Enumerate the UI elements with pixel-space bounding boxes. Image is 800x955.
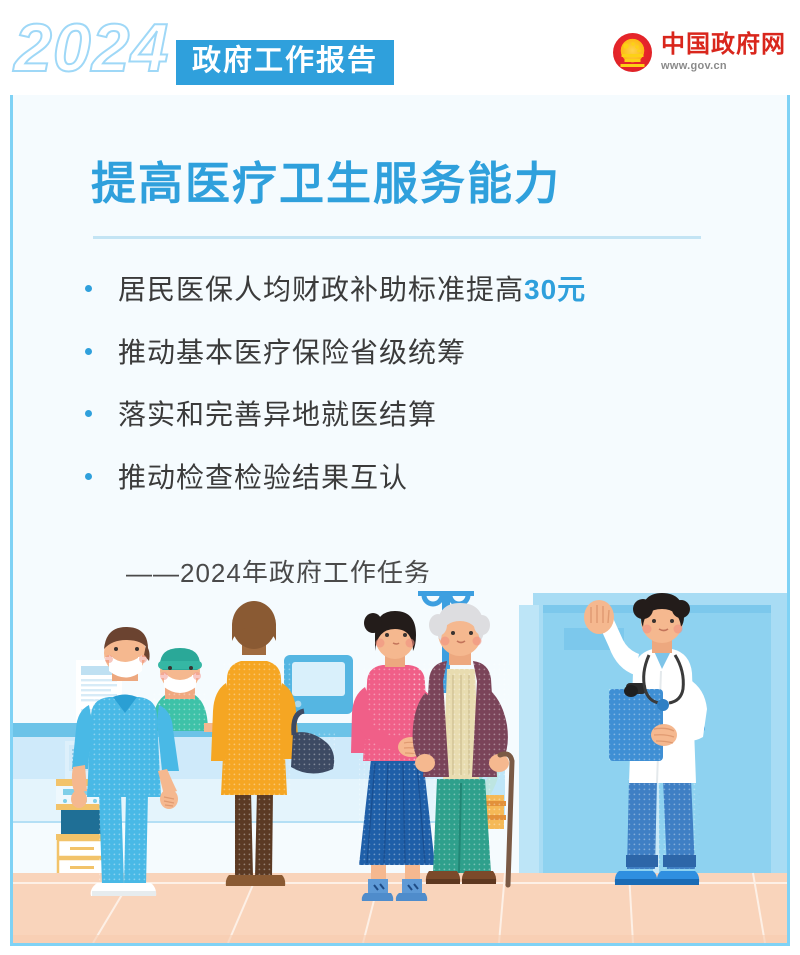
bullet-list: 居民医保人均财政补助标准提高30元 推动基本医疗保险省级统筹 落实和完善异地就医… <box>85 273 725 523</box>
page-title: 提高医疗卫生服务能力 <box>91 147 561 212</box>
list-item: 推动检查检验结果互认 <box>85 461 725 495</box>
poster-header: 2024 政府工作报告 中国政府网 www.gov.cn <box>0 0 800 95</box>
list-item-label: 居民医保人均财政补助标准提高30元 <box>118 273 586 307</box>
content-card: 提高医疗卫生服务能力 居民医保人均财政补助标准提高30元 推动基本医疗保险省级统… <box>10 88 790 946</box>
gov-site-name: 中国政府网 <box>661 33 786 57</box>
list-item-label: 落实和完善异地就医结算 <box>118 398 437 432</box>
report-badge: 政府工作报告 <box>176 40 394 85</box>
gov-logo-text: 中国政府网 www.gov.cn <box>661 33 786 72</box>
list-item: 推动基本医疗保险省级统筹 <box>85 336 725 370</box>
poster-root: 2024 政府工作报告 中国政府网 www.gov.cn 提高医疗卫生服务能力 … <box>0 0 800 955</box>
bullet-dot-icon <box>85 410 92 417</box>
gov-logo[interactable]: 中国政府网 www.gov.cn <box>613 33 786 72</box>
china-national-emblem-icon <box>613 33 652 72</box>
hospital-illustration-svg <box>13 583 787 943</box>
hospital-illustration <box>13 583 787 943</box>
list-item-label: 推动基本医疗保险省级统筹 <box>118 336 466 370</box>
list-item-highlight: 30元 <box>524 274 586 305</box>
gov-site-url: www.gov.cn <box>661 61 786 72</box>
title-divider <box>93 236 701 239</box>
list-item: 居民医保人均财政补助标准提高30元 <box>85 273 725 307</box>
list-item-label: 推动检查检验结果互认 <box>118 461 408 495</box>
list-item: 落实和完善异地就医结算 <box>85 398 725 432</box>
bullet-dot-icon <box>85 285 92 292</box>
year-outline-text: 2024 <box>14 14 169 82</box>
bullet-dot-icon <box>85 473 92 480</box>
bullet-dot-icon <box>85 348 92 355</box>
